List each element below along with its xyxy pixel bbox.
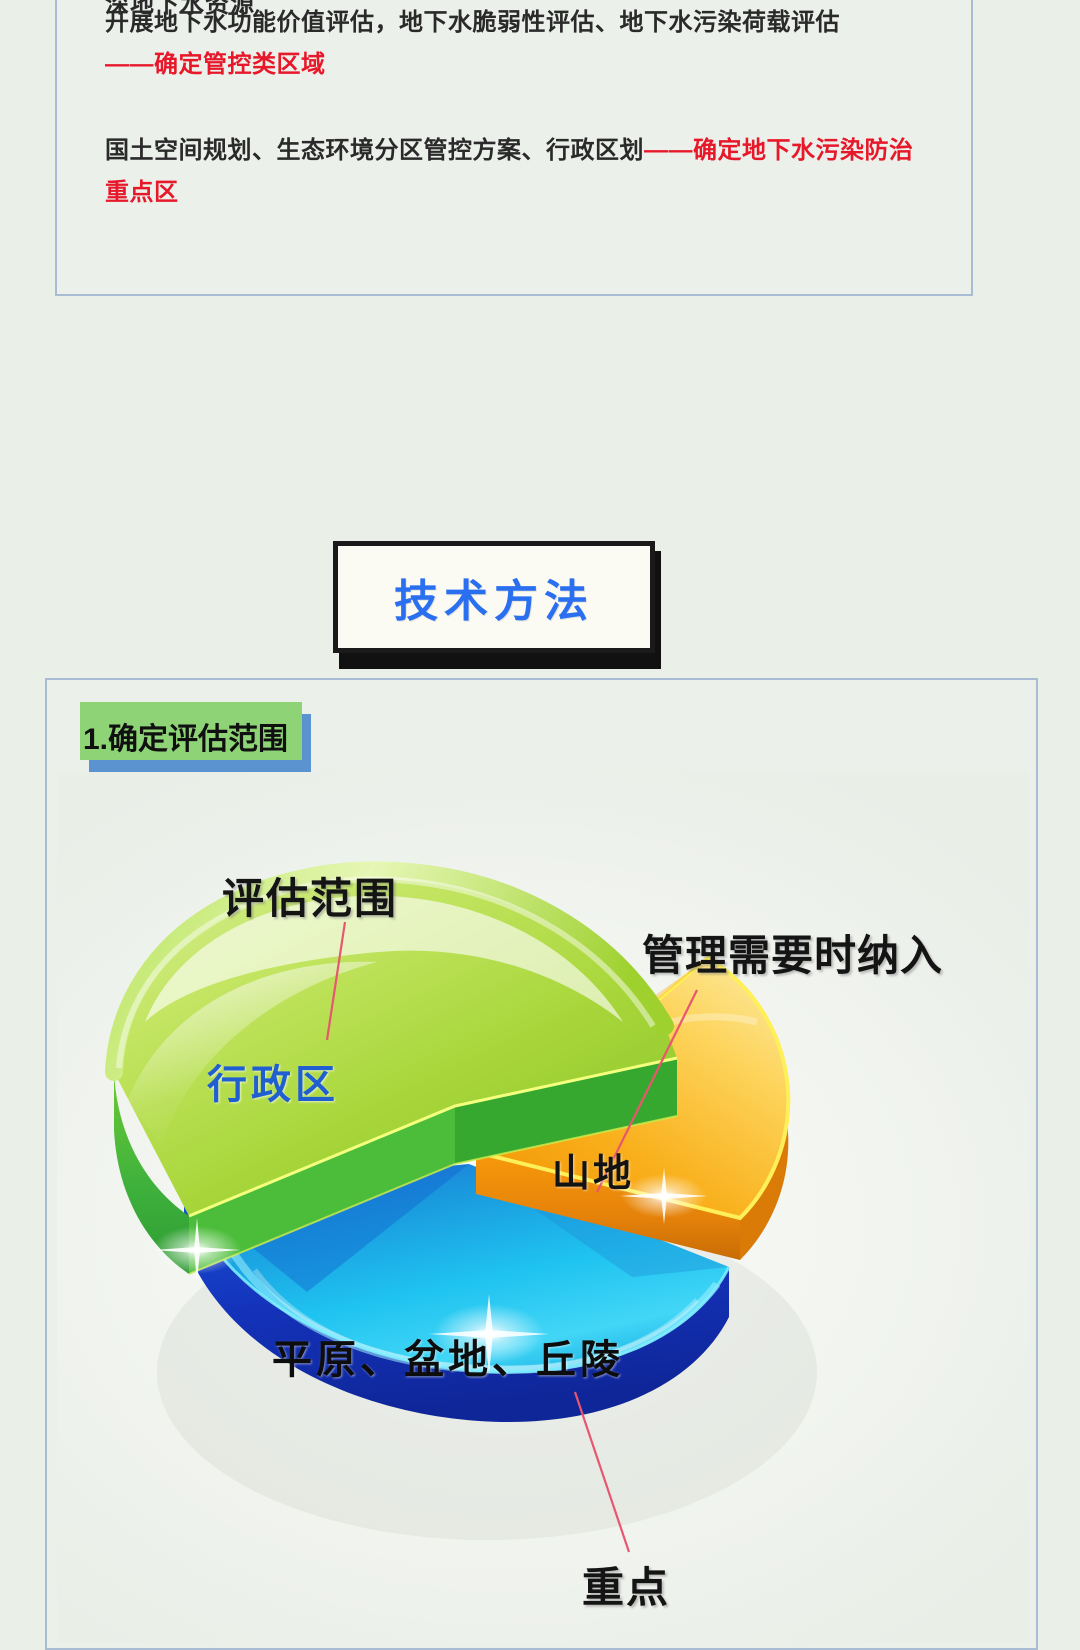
paragraph-2: 国土空间规划、生态环境分区管控方案、行政区划——确定地下水污染防治重点区	[105, 130, 925, 214]
paragraph-1: 开展地下水功能价值评估，地下水脆弱性评估、地下水污染荷载评估 ——确定管控类区域	[105, 2, 925, 86]
section-title-plaque: 技术方法	[333, 541, 673, 669]
step-label-text: 1.确定评估范围	[83, 714, 313, 758]
callout-focus-area: 重点	[582, 1554, 670, 1615]
slice-label-mountain: 山地	[552, 1142, 634, 1197]
leader-lines	[57, 772, 1030, 1642]
leader-line-scope	[327, 922, 345, 1040]
paragraph-1-black: 开展地下水功能价值评估，地下水脆弱性评估、地下水污染荷载评估	[105, 9, 840, 36]
paragraph-1-red: ——确定管控类区域	[105, 51, 326, 78]
section-title-label: 技术方法	[394, 565, 594, 629]
slide-groundwater-assessment: 深地下水资源 开展地下水功能价值评估，地下水脆弱性评估、地下水污染荷载评估 ——…	[55, 0, 973, 296]
slide-technical-method: 1.确定评估范围	[45, 678, 1038, 1650]
leader-line-focus	[575, 1392, 629, 1552]
document-page: 深地下水资源 开展地下水功能价值评估，地下水脆弱性评估、地下水污染荷载评估 ——…	[0, 0, 1080, 1650]
paragraph-2-black: 国土空间规划、生态环境分区管控方案、行政区划	[105, 137, 644, 164]
plaque-frame: 技术方法	[333, 541, 655, 653]
callout-include-when-needed: 管理需要时纳入	[642, 922, 943, 983]
slice-label-admin-district: 行政区	[207, 1052, 339, 1110]
pie-chart-figure: 评估范围 管理需要时纳入 重点 行政区 山地 平原、盆地、丘陵	[57, 772, 1030, 1642]
slide1-body: 开展地下水功能价值评估，地下水脆弱性评估、地下水污染荷载评估 ——确定管控类区域…	[105, 2, 925, 214]
step-label: 1.确定评估范围	[79, 702, 329, 774]
callout-assessment-scope: 评估范围	[222, 865, 398, 926]
slice-label-plain-basin-hill: 平原、盆地、丘陵	[272, 1327, 624, 1385]
